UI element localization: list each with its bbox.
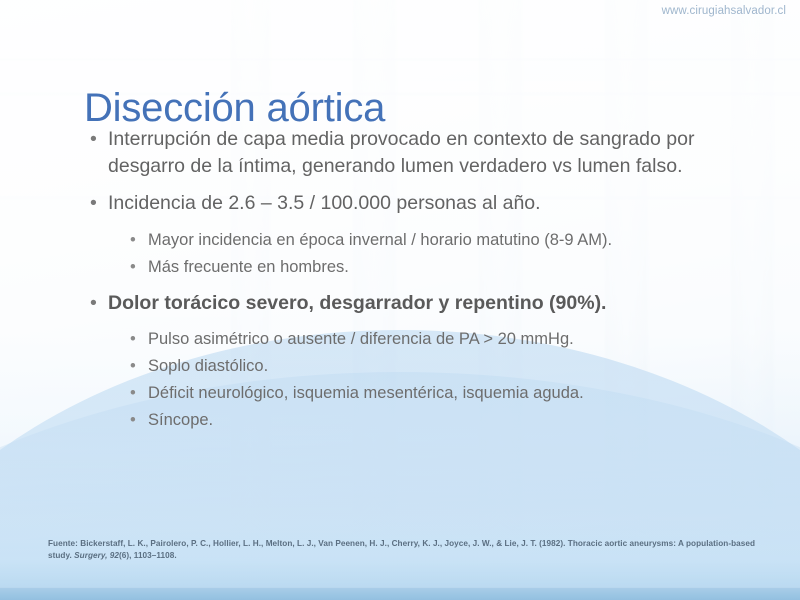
bullet-group: • Interrupción de capa media provocado e… (84, 126, 744, 179)
sub-list-item: • Déficit neurológico, isquemia mesentér… (126, 381, 744, 406)
site-url-watermark: www.cirugiahsalvador.cl (662, 5, 786, 17)
bullet-list-level2: • Pulso asimétrico o ausente / diferenci… (84, 327, 744, 433)
sub-list-item: • Soplo diastólico. (126, 354, 744, 379)
page-title: Disección aórtica (84, 85, 385, 131)
bullet-icon: • (130, 228, 136, 253)
citation-text-part2: (6), 1103–1108. (119, 551, 177, 560)
sub-list-item-label: Soplo diastólico. (148, 357, 268, 375)
bullet-group-inner: • Incidencia de 2.6 – 3.5 / 100.000 pers… (84, 190, 744, 217)
bullet-icon: • (130, 327, 136, 352)
source-citation: Fuente: Bickerstaff, L. K., Pairolero, P… (48, 538, 758, 561)
bullet-icon: • (90, 126, 97, 153)
bullet-group: • Incidencia de 2.6 – 3.5 / 100.000 pers… (84, 190, 744, 280)
sub-list-item: • Más frecuente en hombres. (126, 255, 744, 280)
sub-list-item: • Síncope. (126, 408, 744, 433)
sub-list-item-label: Déficit neurológico, isquemia mesentéric… (148, 384, 584, 402)
list-item-label: Interrupción de capa media provocado en … (108, 128, 694, 177)
sub-list-item: • Mayor incidencia en época invernal / h… (126, 228, 744, 253)
list-item-label: Dolor torácico severo, desgarrador y rep… (108, 292, 606, 314)
list-item: • Dolor torácico severo, desgarrador y r… (84, 290, 744, 317)
bullet-body: • Interrupción de capa media provocado e… (84, 126, 744, 435)
bullet-group: • Dolor torácico severo, desgarrador y r… (84, 290, 744, 434)
bullet-list-level1: • Interrupción de capa media provocado e… (84, 126, 744, 433)
sub-list-item-label: Mayor incidencia en época invernal / hor… (148, 231, 612, 249)
bullet-icon: • (130, 354, 136, 379)
bullet-group-inner: • Interrupción de capa media provocado e… (84, 126, 744, 179)
bullet-icon: • (90, 290, 97, 317)
slide-content: www.cirugiahsalvador.cl Disección aórtic… (0, 0, 800, 600)
bullet-icon: • (130, 255, 136, 280)
list-item-label: Incidencia de 2.6 – 3.5 / 100.000 person… (108, 192, 541, 214)
sub-list-item-label: Más frecuente en hombres. (148, 258, 349, 276)
bullet-icon: • (130, 381, 136, 406)
citation-journal: Surgery, 92 (74, 551, 119, 560)
list-item: • Incidencia de 2.6 – 3.5 / 100.000 pers… (84, 190, 744, 217)
bullet-icon: • (130, 408, 136, 433)
slide: www.cirugiahsalvador.cl Disección aórtic… (0, 0, 800, 600)
list-item: • Interrupción de capa media provocado e… (84, 126, 744, 179)
bullet-list-level2: • Mayor incidencia en época invernal / h… (84, 228, 744, 280)
sub-list-item: • Pulso asimétrico o ausente / diferenci… (126, 327, 744, 352)
bullet-icon: • (90, 190, 97, 217)
sub-list-item-label: Síncope. (148, 411, 213, 429)
bullet-group-inner: • Dolor torácico severo, desgarrador y r… (84, 290, 744, 317)
sub-list-item-label: Pulso asimétrico o ausente / diferencia … (148, 330, 574, 348)
